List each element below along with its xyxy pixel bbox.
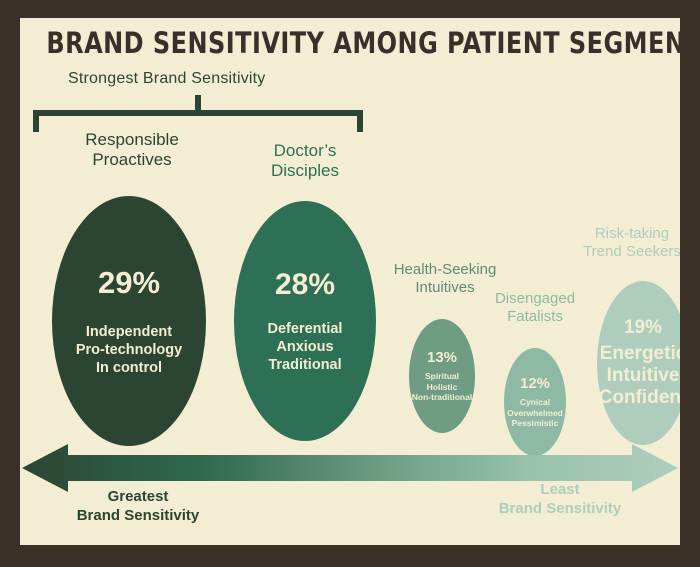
segment-ellipse-doctors-disciples[interactable]: 28% Deferential Anxious Traditional <box>234 201 376 441</box>
infographic-frame: BRAND SENSITIVITY AMONG PATIENT SEGMENTA… <box>0 0 700 567</box>
segment-traits-doctors-disciples: Deferential Anxious Traditional <box>268 320 343 374</box>
infographic-canvas: BRAND SENSITIVITY AMONG PATIENT SEGMENTA… <box>20 18 680 545</box>
segment-label-risk-taking-trend-seekers: Risk-taking Trend Seekers <box>554 225 680 260</box>
bracket <box>33 95 363 131</box>
segment-ellipse-risk-taking-trend-seekers[interactable]: 19% Energetic Intuitive Confident <box>597 281 680 445</box>
segment-traits-responsible-proactives: Independent Pro-technology In control <box>76 323 182 377</box>
bracket-bar <box>33 110 363 116</box>
segment-traits-disengaged-fatalists: Cynical Overwhelmed Pessimistic <box>507 397 563 429</box>
segment-ellipse-responsible-proactives[interactable]: 29% Independent Pro-technology In contro… <box>52 196 206 446</box>
segment-traits-health-seeking-intuitives: Spiritual Holistic Non-traditional <box>412 371 472 403</box>
segment-value-health-seeking-intuitives: 13% <box>427 349 457 366</box>
bracket-stem <box>195 95 201 111</box>
segment-ellipse-health-seeking-intuitives[interactable]: 13% Spiritual Holistic Non-traditional <box>409 319 475 433</box>
segment-label-doctors-disciples: Doctor’s Disciples <box>225 141 385 181</box>
bracket-tick-right <box>357 110 363 132</box>
segment-traits-risk-taking-trend-seekers: Energetic Intuitive Confident <box>599 343 680 409</box>
segment-value-responsible-proactives: 29% <box>98 265 160 301</box>
page-title: BRAND SENSITIVITY AMONG PATIENT SEGMENTA… <box>46 26 653 60</box>
bracket-label: Strongest Brand Sensitivity <box>68 70 266 88</box>
segment-value-risk-taking-trend-seekers: 19% <box>624 317 662 339</box>
scale-label-greatest: Greatest Brand Sensitivity <box>28 488 248 526</box>
bracket-tick-left <box>33 110 39 132</box>
segment-label-responsible-proactives: Responsible Proactives <box>42 130 222 170</box>
segment-value-disengaged-fatalists: 12% <box>520 375 550 392</box>
segment-label-disengaged-fatalists: Disengaged Fatalists <box>465 290 605 325</box>
segment-value-doctors-disciples: 28% <box>275 268 335 302</box>
scale-label-least: Least Brand Sensitivity <box>450 481 670 519</box>
